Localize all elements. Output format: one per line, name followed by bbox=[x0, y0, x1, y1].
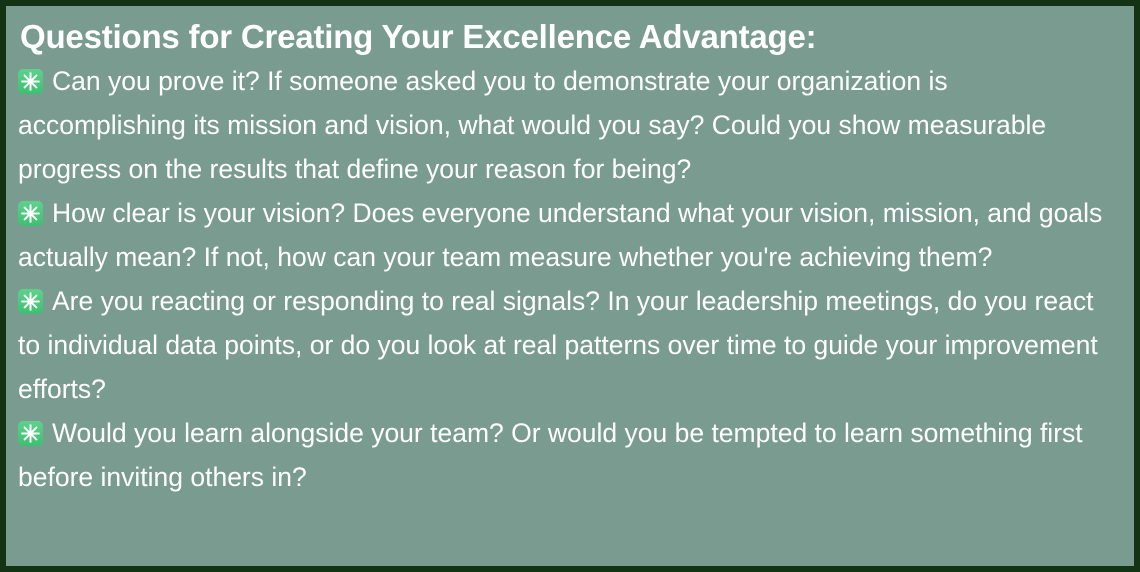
eight-spoked-asterisk-icon bbox=[18, 69, 43, 94]
question-list: Can you prove it? If someone asked you t… bbox=[16, 59, 1122, 499]
question-text: How clear is your vision? Does everyone … bbox=[18, 198, 1102, 272]
slide-frame: Questions for Creating Your Excellence A… bbox=[0, 0, 1140, 572]
question-text: Would you learn alongside your team? Or … bbox=[18, 418, 1083, 492]
question-text: Are you reacting or responding to real s… bbox=[18, 286, 1098, 404]
list-item: Would you learn alongside your team? Or … bbox=[16, 411, 1122, 499]
eight-spoked-asterisk-icon bbox=[18, 289, 43, 314]
question-text: Can you prove it? If someone asked you t… bbox=[18, 66, 1046, 184]
eight-spoked-asterisk-icon bbox=[18, 421, 43, 446]
list-item: Are you reacting or responding to real s… bbox=[16, 279, 1122, 411]
list-item: How clear is your vision? Does everyone … bbox=[16, 191, 1122, 279]
eight-spoked-asterisk-icon bbox=[18, 201, 43, 226]
page-title: Questions for Creating Your Excellence A… bbox=[20, 16, 1122, 57]
list-item: Can you prove it? If someone asked you t… bbox=[16, 59, 1122, 191]
